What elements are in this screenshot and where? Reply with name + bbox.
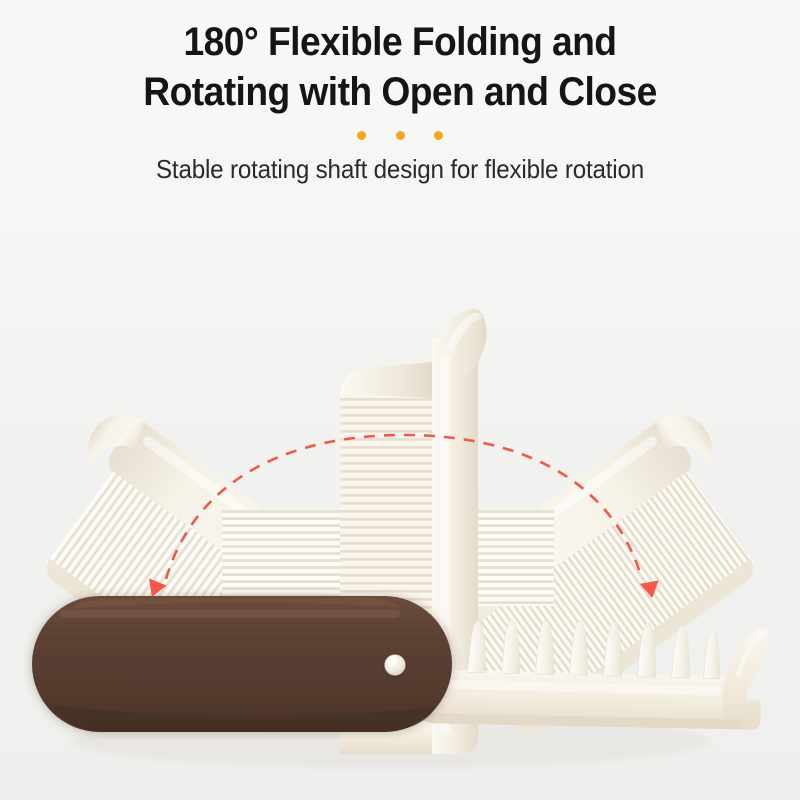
product-feature-banner: 180° Flexible Folding and Rotating with … — [0, 0, 800, 800]
page-subtitle: Stable rotating shaft design for flexibl… — [28, 153, 772, 185]
divider-dot-2 — [396, 131, 405, 140]
handle-folded — [32, 596, 452, 732]
divider-dots — [357, 131, 443, 140]
divider-dot-3 — [434, 131, 443, 140]
product-photo — [0, 185, 800, 800]
page-title: 180° Flexible Folding and Rotating with … — [28, 0, 772, 117]
divider-dot-1 — [357, 131, 366, 140]
header: 180° Flexible Folding and Rotating with … — [0, 0, 800, 200]
